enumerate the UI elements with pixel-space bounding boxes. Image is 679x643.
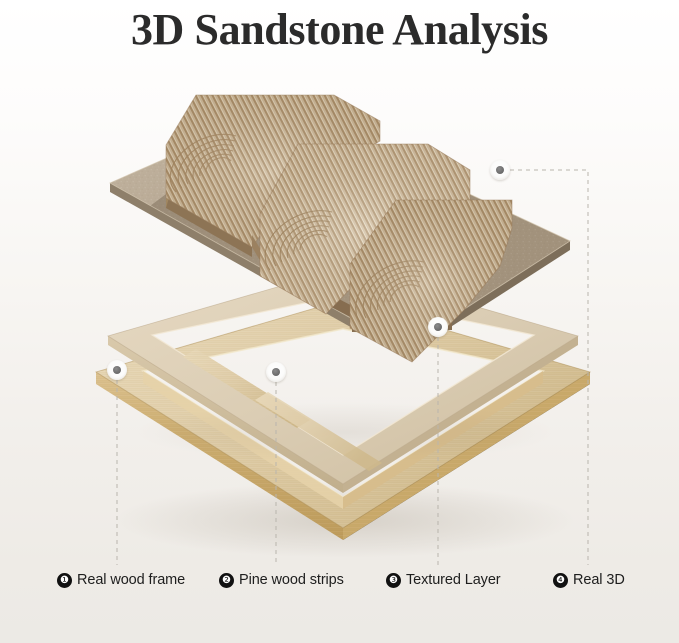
legend-label-3: Textured Layer — [406, 572, 501, 588]
exploded-layer-diagram — [0, 0, 679, 643]
legend-item-pine-wood-strips: ❷ Pine wood strips — [219, 572, 344, 588]
legend-item-real-wood-frame: ❶ Real wood frame — [57, 572, 185, 588]
badge-number-2: ❷ — [219, 573, 234, 588]
diagram-canvas: 3D Sandstone Analysis — [0, 0, 679, 643]
marker-dot-4[interactable] — [490, 160, 510, 180]
badge-number-4: ❹ — [553, 573, 568, 588]
legend-label-1: Real wood frame — [77, 572, 185, 588]
legend-label-4: Real 3D — [573, 572, 625, 588]
marker-dot-2[interactable] — [266, 362, 286, 382]
badge-number-1: ❶ — [57, 573, 72, 588]
legend-item-textured-layer: ❸ Textured Layer — [386, 572, 501, 588]
badge-number-3: ❸ — [386, 573, 401, 588]
marker-dot-1[interactable] — [107, 360, 127, 380]
legend: ❶ Real wood frame ❷ Pine wood strips ❸ T… — [0, 572, 679, 598]
marker-dot-3[interactable] — [428, 317, 448, 337]
legend-item-real-3d: ❹ Real 3D — [553, 572, 625, 588]
legend-label-2: Pine wood strips — [239, 572, 344, 588]
